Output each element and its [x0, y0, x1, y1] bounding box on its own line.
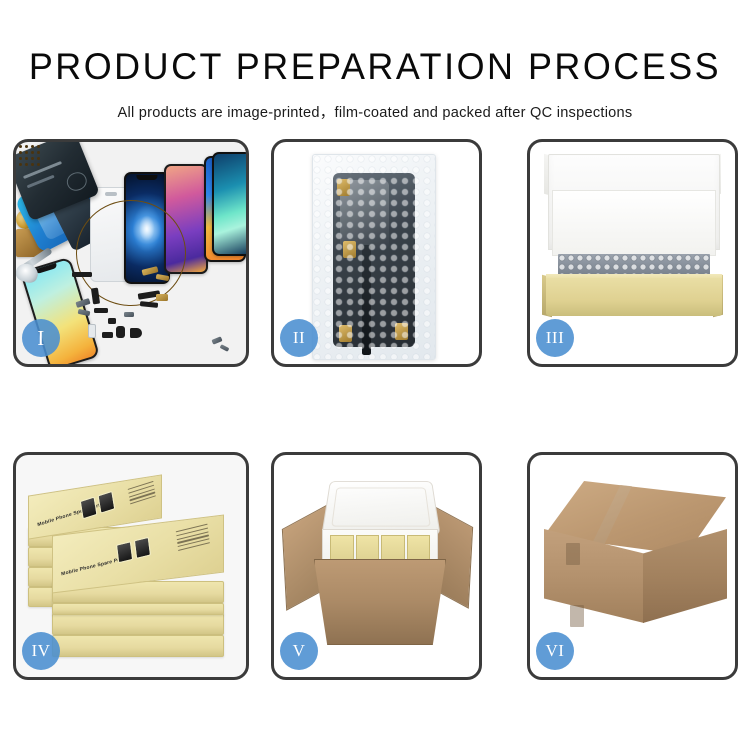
step-badge-1: I — [22, 319, 60, 357]
foam-lid — [321, 481, 440, 535]
stacked-box-front-1 — [52, 613, 224, 635]
process-step-grid: I II — [0, 0, 750, 750]
stacked-box-front-2 — [52, 635, 224, 657]
component-speaker-bar — [72, 272, 92, 277]
box-thumbnail — [116, 541, 133, 563]
step-badge-2: II — [280, 319, 318, 357]
component-gold-pad — [156, 294, 168, 301]
step-badge-6: VI — [536, 632, 574, 670]
product-preparation-infographic: PRODUCT PREPARATION PROCESS All products… — [0, 0, 750, 750]
process-step-6: VI — [527, 452, 738, 680]
step-badge-3: III — [536, 319, 574, 357]
process-step-4: Mobile Phone Spare Parts Mobile P — [13, 452, 249, 680]
carton-tab-upper — [566, 543, 580, 565]
foam-sheet — [552, 190, 716, 256]
phone-display-4 — [212, 152, 249, 256]
camera-ring-icon — [65, 170, 89, 194]
box-thumbnails-front — [116, 537, 151, 564]
box-text-lines-front — [176, 524, 211, 554]
bubble-texture — [313, 155, 435, 359]
component-flex-cable-2 — [140, 301, 158, 308]
box-text-lines-rear — [128, 481, 157, 507]
box-thumbnail — [97, 491, 115, 514]
component-vibrator — [102, 332, 113, 338]
bubble-wrap-bag — [312, 154, 436, 360]
component-camera-module — [130, 328, 142, 338]
component-screw-2 — [220, 344, 230, 352]
yellow-tray — [546, 278, 722, 316]
process-step-5: V — [271, 452, 482, 680]
housing-strip-1 — [23, 161, 63, 179]
box-thumbnail — [134, 537, 151, 559]
step-badge-5: V — [280, 632, 318, 670]
box-thumbnail — [80, 496, 98, 519]
carton-tab-lower — [570, 605, 584, 627]
component-connector-2 — [94, 308, 108, 313]
carton-body — [314, 559, 446, 645]
component-button-1 — [116, 326, 125, 338]
component-metal-shield — [124, 312, 134, 317]
box-thumbnails-rear — [80, 491, 116, 520]
component-white-clip — [88, 324, 96, 338]
stacked-box-front-4 — [52, 603, 224, 615]
phone-notch-icon — [136, 175, 157, 180]
process-step-2: II — [271, 139, 482, 367]
step-badge-4: IV — [22, 632, 60, 670]
component-ic-chip — [108, 318, 116, 324]
process-step-3: III — [527, 139, 738, 367]
phone-screen-4 — [214, 154, 249, 254]
process-step-1: I — [13, 139, 249, 367]
